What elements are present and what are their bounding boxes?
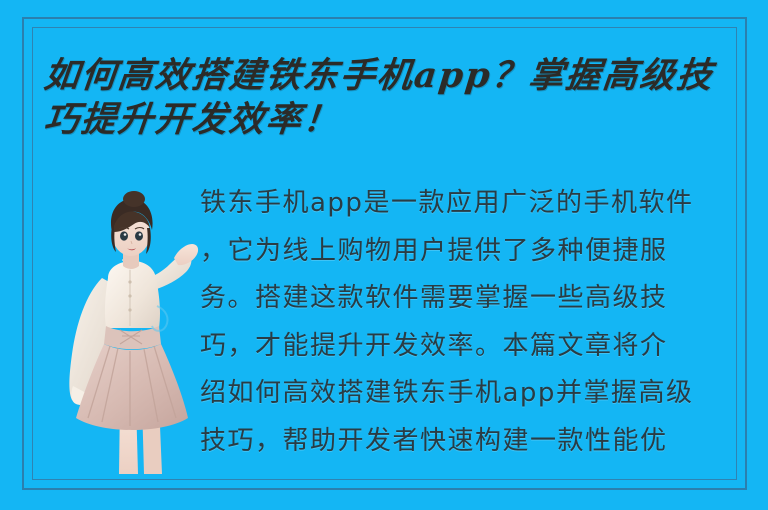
title-line-2: 巧提升开发效率！ bbox=[42, 98, 747, 142]
body-line-3: 务。搭建这款软件需要掌握一些高级技 bbox=[200, 275, 745, 323]
poster-body-text: 铁东手机app是一款应用广泛的手机软件 ，它为线上购物用户提供了多种便捷服 务。… bbox=[200, 180, 745, 470]
body-line-2: ，它为线上购物用户提供了多种便捷服 bbox=[200, 228, 745, 276]
body-line-5: 绍如何高效搭建铁东手机app并掌握高级 bbox=[200, 370, 745, 418]
poster-title: 如何高效搭建铁东手机app？掌握高级技 巧提升开发效率！ bbox=[44, 54, 744, 142]
title-line-1: 如何高效搭建铁东手机app？掌握高级技 bbox=[42, 54, 747, 98]
anime-girl-saluting-illustration bbox=[62, 186, 202, 474]
body-line-1: 铁东手机app是一款应用广泛的手机软件 bbox=[200, 180, 745, 228]
body-line-6: 技巧，帮助开发者快速构建一款性能优 bbox=[200, 418, 745, 466]
body-line-4: 巧，才能提升开发效率。本篇文章将介 bbox=[200, 323, 745, 371]
figure-head bbox=[111, 191, 153, 256]
figure-waistband bbox=[104, 326, 161, 349]
poster-canvas: 如何高效搭建铁东手机app？掌握高级技 巧提升开发效率！ 铁东手机app是一款应… bbox=[0, 0, 768, 510]
